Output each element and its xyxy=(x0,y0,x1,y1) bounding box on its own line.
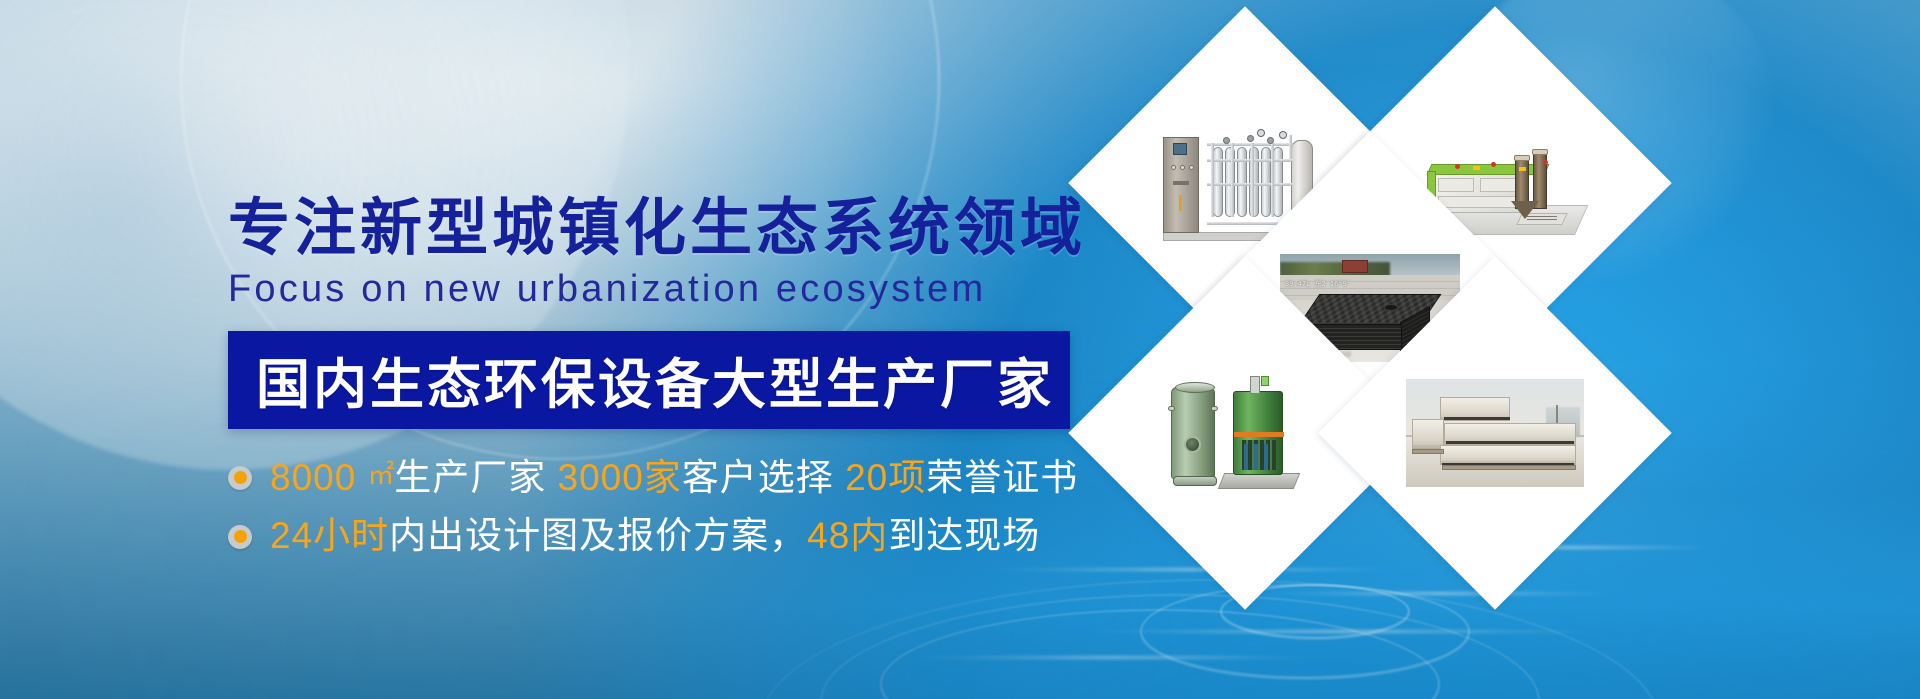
body-text: 内出设计图及报价方案， xyxy=(389,515,807,556)
list-item: 24小时内出设计图及报价方案，48内到达现场 xyxy=(228,515,1228,558)
bullet-dot-icon xyxy=(228,466,252,490)
highlight-text: 48内 xyxy=(807,515,888,556)
highlight-text: 8000 xyxy=(270,457,368,498)
highlight-text: 20项 xyxy=(845,457,926,498)
highlight-text: 24小时 xyxy=(270,515,389,556)
feature-line-2: 24小时内出设计图及报价方案，48内到达现场 xyxy=(270,515,1040,558)
headline-chinese: 专注新型城镇化生态系统领域 xyxy=(228,196,1228,262)
feature-line-1: 8000 ㎡生产厂家 3000家客户选择 20项荣誉证书 xyxy=(270,457,1078,500)
body-text: 生产厂家 xyxy=(394,457,557,498)
body-text: 到达现场 xyxy=(888,515,1040,556)
promo-banner: 专注新型城镇化生态系统领域 Focus on new urbanization … xyxy=(0,0,1920,699)
body-text: 客户选择 xyxy=(682,457,845,498)
list-item: 8000 ㎡生产厂家 3000家客户选择 20项荣誉证书 xyxy=(228,457,1228,500)
panel-stack-illustration xyxy=(1406,379,1584,487)
product-diamond-gallery: 39.47L 东2 16°9' 2020-07-21 现场施工记录 xyxy=(1120,58,1620,658)
banner-copy: 专注新型城镇化生态系统领域 Focus on new urbanization … xyxy=(228,196,1228,574)
highlight-bar: 国内生态环保设备大型生产厂家 xyxy=(228,331,1070,429)
highlight-text: ㎡ xyxy=(368,460,395,490)
feature-list: 8000 ㎡生产厂家 3000家客户选择 20项荣誉证书 24小时内出设计图及报… xyxy=(228,457,1228,558)
body-text: 荣誉证书 xyxy=(926,457,1078,498)
highlight-bar-text: 国内生态环保设备大型生产厂家 xyxy=(228,340,1054,419)
pump-station-illustration xyxy=(1165,373,1325,493)
bullet-dot-icon xyxy=(228,525,252,549)
headline-english: Focus on new urbanization ecosystem xyxy=(228,268,1228,311)
product-photo xyxy=(1370,308,1620,558)
highlight-text: 3000家 xyxy=(558,457,682,498)
photo-gps-stamp: 39.47L 东2 16°9' xyxy=(1285,280,1351,289)
